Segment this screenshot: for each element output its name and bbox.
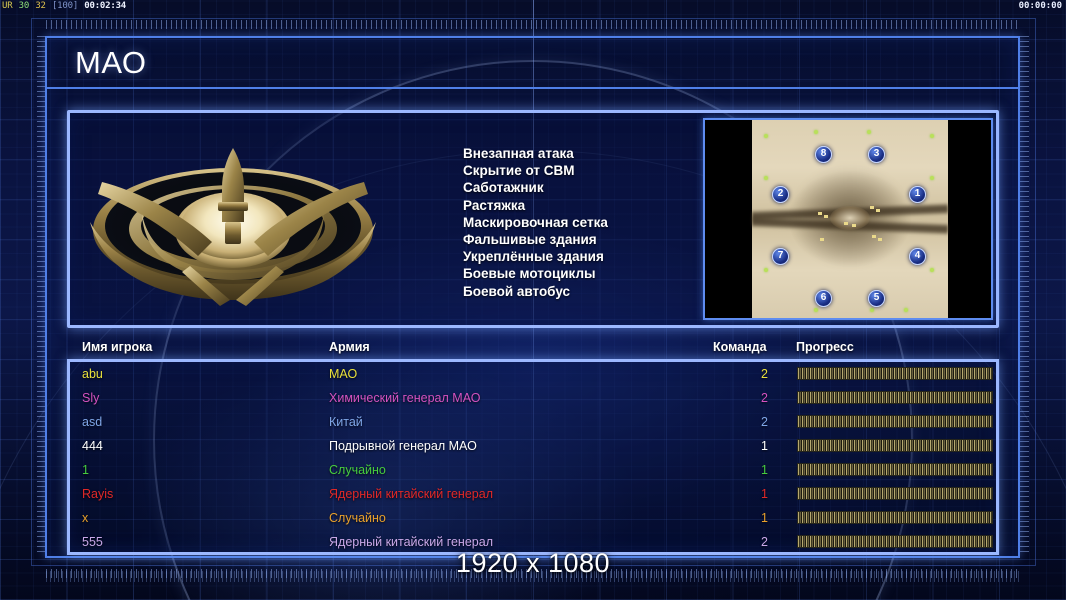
- spawn-point-marker[interactable]: 8: [815, 146, 832, 163]
- frame-value: 32: [35, 1, 45, 11]
- ability-item: Боевые мотоциклы: [463, 265, 608, 282]
- player-progress-bar: [797, 511, 993, 524]
- spawn-point-label: 3: [874, 148, 880, 159]
- player-army: Ядерный китайский генерал: [329, 482, 493, 506]
- spawn-point-label: 2: [778, 188, 784, 199]
- player-team: 2: [761, 362, 768, 386]
- spawn-point-marker[interactable]: 7: [772, 248, 789, 265]
- title-bar: [45, 36, 1020, 89]
- resource-marker: [814, 130, 818, 134]
- resource-marker: [930, 176, 934, 180]
- player-name: abu: [82, 362, 103, 386]
- spawn-point-marker[interactable]: 1: [909, 186, 926, 203]
- progress-fill: [798, 536, 992, 547]
- progress-fill: [798, 392, 992, 403]
- ability-item: Саботажник: [463, 179, 608, 196]
- spawn-point-marker[interactable]: 5: [868, 290, 885, 307]
- player-army: Случайно: [329, 458, 386, 482]
- player-team: 1: [761, 458, 768, 482]
- tech-marker: [818, 212, 822, 215]
- player-name: Rayis: [82, 482, 113, 506]
- resource-marker: [904, 308, 908, 312]
- bracket-value: [100]: [52, 1, 78, 11]
- page-title: МАО: [75, 45, 146, 81]
- player-army: Случайно: [329, 506, 386, 530]
- resource-marker: [764, 176, 768, 180]
- table-row: 444Подрывной генерал МАО1: [67, 434, 999, 458]
- table-row: xСлучайно1: [67, 506, 999, 530]
- progress-fill: [798, 488, 992, 499]
- ability-item: Растяжка: [463, 197, 608, 214]
- ability-item: Укреплённые здания: [463, 248, 608, 265]
- column-header-team: Команда: [713, 340, 767, 354]
- player-team: 2: [761, 410, 768, 434]
- player-team: 1: [761, 434, 768, 458]
- ability-item: Фальшивые здания: [463, 231, 608, 248]
- player-army: Подрывной генерал МАО: [329, 434, 477, 458]
- resource-marker: [814, 308, 818, 312]
- progress-fill: [798, 440, 992, 451]
- session-clock: 00:02:34: [84, 1, 126, 11]
- table-row: SlyХимический генерал МАО2: [67, 386, 999, 410]
- performance-readout: UR 30 32 [100] 00:02:34: [2, 0, 127, 13]
- fps-label: UR: [2, 1, 12, 11]
- fps-value: 30: [19, 1, 29, 11]
- spawn-point-label: 4: [915, 250, 921, 261]
- spawn-point-marker[interactable]: 4: [909, 248, 926, 265]
- minimap-terrain: 8 3 2 1 7 4 6 5: [752, 120, 948, 318]
- player-army: Химический генерал МАО: [329, 386, 480, 410]
- player-team: 1: [761, 482, 768, 506]
- ability-item: Скрытие от СВМ: [463, 162, 608, 179]
- spawn-point-label: 5: [874, 292, 880, 303]
- ability-item: Внезапная атака: [463, 145, 608, 162]
- resource-marker: [930, 268, 934, 272]
- spawn-point-label: 7: [778, 250, 784, 261]
- resource-marker: [930, 134, 934, 138]
- table-row: 1Случайно1: [67, 458, 999, 482]
- tech-marker: [872, 235, 876, 238]
- top-status-bar: UR 30 32 [100] 00:02:34 00:00:00: [0, 0, 1066, 14]
- spawn-point-marker[interactable]: 2: [772, 186, 789, 203]
- resolution-watermark: 1920 x 1080: [0, 548, 1066, 579]
- resource-marker: [764, 268, 768, 272]
- progress-fill: [798, 512, 992, 523]
- table-row: abuМАО2: [67, 362, 999, 386]
- ability-item: Маскировочная сетка: [463, 214, 608, 231]
- gla-faction-emblem: [78, 130, 388, 310]
- spawn-point-label: 1: [915, 188, 921, 199]
- tech-marker: [878, 238, 882, 241]
- loading-screen: UR 30 32 [100] 00:02:34 00:00:00 МАО: [0, 0, 1066, 600]
- tech-marker: [852, 224, 856, 227]
- player-table-body: abuМАО2SlyХимический генерал МАО2asdКита…: [67, 362, 999, 554]
- player-progress-bar: [797, 367, 993, 380]
- resource-marker: [764, 134, 768, 138]
- player-army: Китай: [329, 410, 363, 434]
- spawn-point-label: 8: [821, 148, 827, 159]
- progress-fill: [798, 368, 992, 379]
- resource-marker: [867, 130, 871, 134]
- player-progress-bar: [797, 415, 993, 428]
- tech-marker: [876, 209, 880, 212]
- progress-fill: [798, 416, 992, 427]
- player-name: 1: [82, 458, 89, 482]
- player-team: 1: [761, 506, 768, 530]
- column-header-name: Имя игрока: [82, 340, 152, 354]
- player-name: 444: [82, 434, 103, 458]
- player-team: 2: [761, 386, 768, 410]
- spawn-point-marker[interactable]: 6: [815, 290, 832, 307]
- minimap-center-island: [830, 206, 870, 230]
- table-row: RayisЯдерный китайский генерал1: [67, 482, 999, 506]
- player-progress-bar: [797, 487, 993, 500]
- player-progress-bar: [797, 535, 993, 548]
- ability-item: Боевой автобус: [463, 283, 608, 300]
- progress-fill: [798, 464, 992, 475]
- player-name: Sly: [82, 386, 99, 410]
- player-table-header: Имя игрока Армия Команда Прогресс: [67, 340, 999, 358]
- table-row: asdКитай2: [67, 410, 999, 434]
- faction-ability-list: Внезапная атака Скрытие от СВМ Саботажни…: [463, 145, 608, 300]
- tech-marker: [870, 206, 874, 209]
- minimap-preview: 8 3 2 1 7 4 6 5: [703, 118, 993, 320]
- match-timer: 00:00:00: [1019, 0, 1062, 13]
- resource-marker: [870, 308, 874, 312]
- tech-marker: [820, 238, 824, 241]
- spawn-point-label: 6: [821, 292, 827, 303]
- column-header-army: Армия: [329, 340, 370, 354]
- tech-marker: [844, 222, 848, 225]
- tech-marker: [824, 215, 828, 218]
- player-name: asd: [82, 410, 102, 434]
- player-army: МАО: [329, 362, 357, 386]
- spawn-point-marker[interactable]: 3: [868, 146, 885, 163]
- player-progress-bar: [797, 439, 993, 452]
- player-progress-bar: [797, 463, 993, 476]
- player-name: x: [82, 506, 88, 530]
- player-progress-bar: [797, 391, 993, 404]
- column-header-progress: Прогресс: [796, 340, 854, 354]
